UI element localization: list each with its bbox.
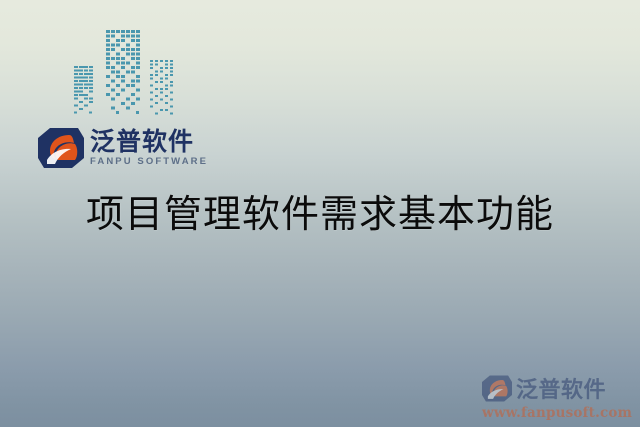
fanpu-logo-lockup: 泛普软件 FANPU SOFTWARE	[38, 126, 208, 170]
watermark-brand-name: 泛普软件	[516, 372, 606, 404]
watermark-url: www.fanpusoft.com	[482, 405, 632, 421]
slide-headline: 项目管理软件需求基本功能	[0, 183, 640, 238]
pixel-skyline-illustration	[70, 22, 180, 118]
fanpu-hexagon-swoosh-logo	[482, 374, 512, 403]
site-watermark: 泛普软件 www.fanpusoft.com	[482, 372, 632, 421]
brand-name-en: FANPU SOFTWARE	[90, 157, 208, 167]
brand-name-cn: 泛普软件	[90, 129, 208, 155]
slide-canvas: 泛普软件 FANPU SOFTWARE 项目管理软件需求基本功能 泛普软件 ww…	[0, 0, 640, 427]
fanpu-wordmark: 泛普软件 FANPU SOFTWARE	[90, 129, 208, 168]
watermark-logo-row: 泛普软件	[482, 372, 632, 404]
fanpu-hexagon-swoosh-logo	[38, 126, 84, 170]
